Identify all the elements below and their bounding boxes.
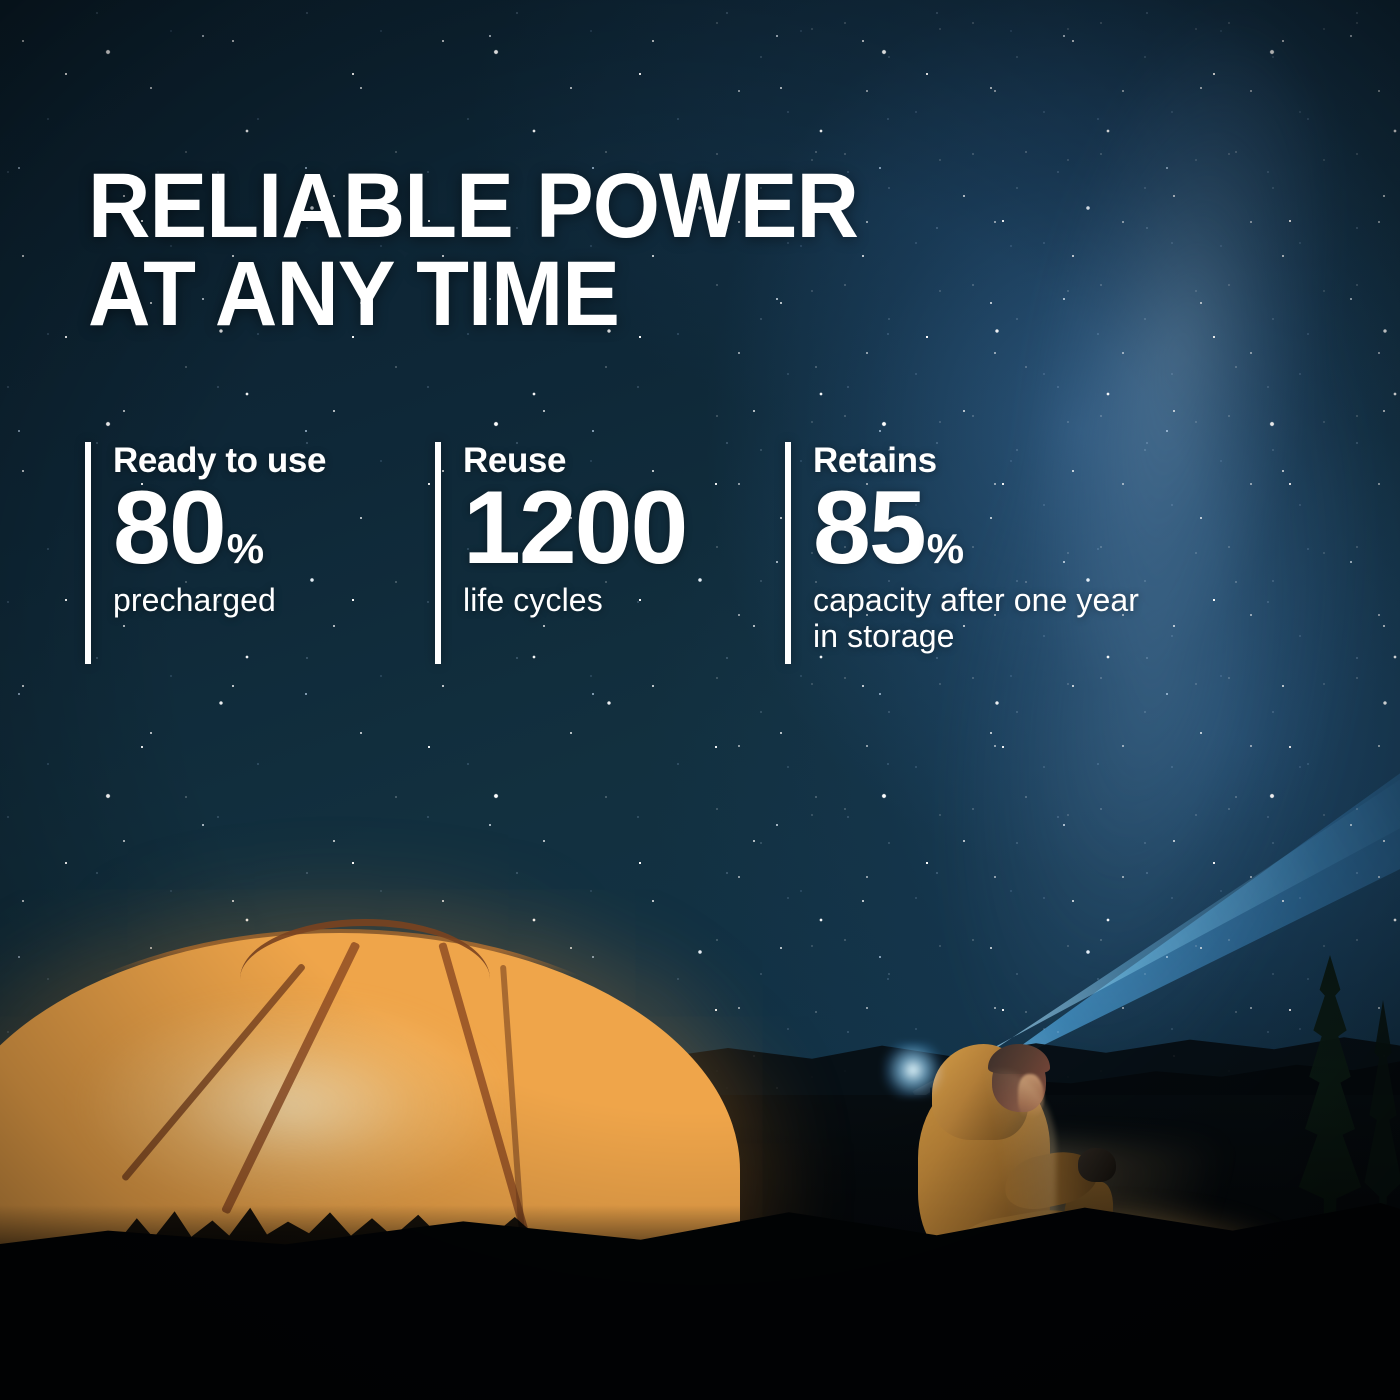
stats-row: Ready to use 80% precharged Reuse 1200 l… [85, 442, 1139, 664]
stat-value: 85% [813, 484, 1139, 573]
stat-body: Reuse 1200 life cycles [441, 442, 688, 664]
stat-number: 85 [813, 484, 925, 573]
stat-subtext: precharged [113, 583, 326, 619]
stat-number: 1200 [463, 484, 686, 573]
stat-number: 80 [113, 484, 225, 573]
stat-body: Ready to use 80% precharged [91, 442, 326, 664]
stat-block-ready-to-use: Ready to use 80% precharged [85, 442, 435, 664]
page-title: RELIABLE POWERAT ANY TIME [88, 162, 858, 339]
stat-block-reuse: Reuse 1200 life cycles [435, 442, 785, 664]
stat-block-retains: Retains 85% capacity after one year in s… [785, 442, 1139, 664]
stat-unit: % [927, 531, 963, 567]
stat-unit: % [227, 531, 263, 567]
camper-glove [1078, 1148, 1116, 1182]
stat-value: 80% [113, 484, 326, 573]
stat-subtext: capacity after one year in storage [813, 583, 1139, 655]
headline-line-1: RELIABLE POWER [88, 155, 858, 257]
headline-line-2: AT ANY TIME [88, 250, 858, 338]
headlamp-glow [882, 1042, 944, 1098]
marketing-banner: RELIABLE POWERAT ANY TIME Ready to use 8… [0, 0, 1400, 1400]
stat-subtext: life cycles [463, 583, 688, 619]
stat-value: 1200 [463, 484, 688, 573]
stat-body: Retains 85% capacity after one year in s… [791, 442, 1139, 664]
